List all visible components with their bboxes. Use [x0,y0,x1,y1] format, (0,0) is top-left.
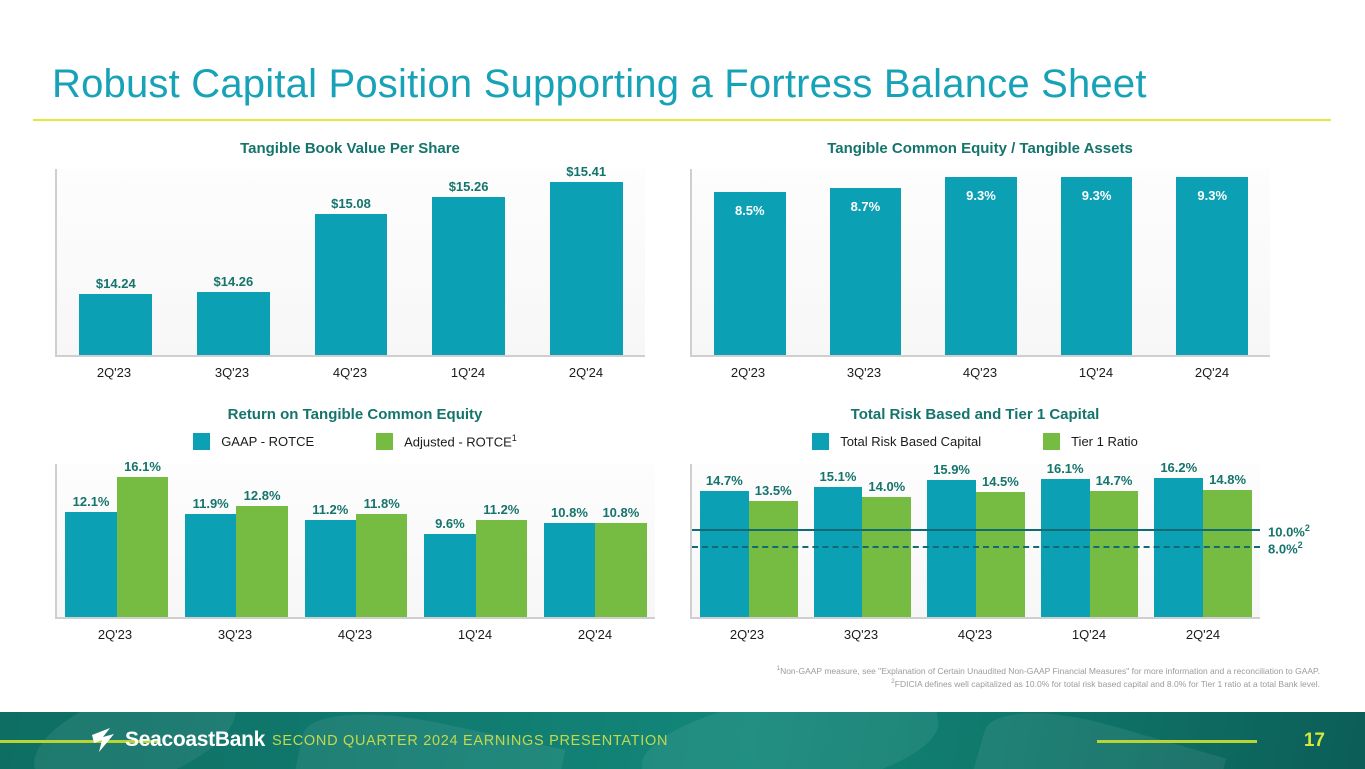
x-axis-tick-label: 4Q'23 [295,627,415,642]
x-axis-tick-label: 3Q'23 [804,627,918,642]
chart-x-axis: 2Q'233Q'234Q'231Q'242Q'24 [55,627,655,642]
chart-title: Total Risk Based and Tier 1 Capital [690,406,1260,423]
chart-x-axis: 2Q'233Q'234Q'231Q'242Q'24 [690,365,1270,380]
bar [185,514,236,617]
chart-plot-area: $14.24$14.26$15.08$15.26$15.41 [55,169,645,357]
bar [315,214,388,355]
x-axis-tick-label: 2Q'23 [690,365,806,380]
footnote-2: 2FDICIA defines well capitalized as 10.0… [700,677,1320,690]
bar-value-label: 9.3% [945,188,1017,203]
bar-value-label: 9.3% [1061,188,1133,203]
x-axis-tick-label: 2Q'23 [690,627,804,642]
reference-line [692,546,1260,548]
bar-value-label: 13.5% [745,483,802,498]
chart-panel-rotce: Return on Tangible Common Equity GAAP - … [55,406,655,619]
bar [814,487,863,617]
bar [476,520,527,617]
bar-value-label: 8.5% [714,203,786,218]
bar [1176,177,1248,355]
x-axis-tick-label: 1Q'24 [1038,365,1154,380]
chart-title: Tangible Book Value Per Share [55,140,645,157]
bar-value-label: 12.1% [61,494,120,509]
legend-item-tier-1-ratio[interactable]: Tier 1 Ratio [1043,433,1138,450]
x-axis-tick-label: 2Q'24 [1154,365,1270,380]
footer-caption: SECOND QUARTER 2024 EARNINGS PRESENTATIO… [272,733,668,749]
chart-panel-tce-tangible-assets: Tangible Common Equity / Tangible Assets… [690,140,1270,357]
x-axis-tick-label: 1Q'24 [1032,627,1146,642]
bar-value-label: 11.2% [472,502,531,517]
bar-value-label: 9.3% [1176,188,1248,203]
bar [550,182,623,355]
x-axis-tick-label: 4Q'23 [291,365,409,380]
bar-value-label: 14.7% [1086,473,1143,488]
bar [1090,491,1139,617]
bar-value-label: 12.8% [232,488,291,503]
bar [236,506,287,617]
x-axis-tick-label: 2Q'23 [55,627,175,642]
bar-value-label: $15.26 [428,179,509,194]
bar [117,477,168,617]
x-axis-tick-label: 3Q'23 [173,365,291,380]
x-axis-tick-label: 1Q'24 [415,627,535,642]
bar [197,292,270,355]
legend-swatch-icon [812,433,829,450]
reference-line-label: 10.0%2 [1268,523,1310,539]
footer-rule-right [1097,740,1257,743]
slide-footer: SeacoastBank SECOND QUARTER 2024 EARNING… [0,712,1365,769]
bar [356,514,407,617]
bar-value-label: $15.08 [311,196,392,211]
bar-value-label: 14.8% [1199,472,1256,487]
bar-value-label: 14.0% [858,479,915,494]
legend-swatch-icon [376,433,393,450]
legend-label: Adjusted - ROTCE1 [404,433,517,449]
bar [79,294,152,355]
bar [305,520,356,617]
legend-swatch-icon [193,433,210,450]
bar [749,501,798,617]
palm-frond-decor-icon [634,712,945,769]
x-axis-tick-label: 2Q'23 [55,365,173,380]
legend-label: GAAP - ROTCE [221,434,314,449]
legend-item-gaap-rotce[interactable]: GAAP - ROTCE [193,433,314,450]
x-axis-tick-label: 2Q'24 [535,627,655,642]
x-axis-tick-label: 4Q'23 [918,627,1032,642]
x-axis-tick-label: 4Q'23 [922,365,1038,380]
footnote-1: 1Non-GAAP measure, see "Explanation of C… [700,664,1320,677]
bar [544,523,595,617]
bar [1203,490,1252,617]
legend-label: Total Risk Based Capital [840,434,981,449]
bar [700,491,749,617]
x-axis-tick-label: 1Q'24 [409,365,527,380]
bar [432,197,505,355]
bar [927,480,976,617]
x-axis-tick-label: 2Q'24 [527,365,645,380]
bar [424,534,475,617]
bar-value-label: 10.8% [591,505,650,520]
chart-legend: Total Risk Based Capital Tier 1 Ratio [690,433,1260,450]
legend-swatch-icon [1043,433,1060,450]
brand-lockup: SeacoastBank [90,726,265,754]
bar [595,523,646,617]
bar [976,492,1025,617]
chart-panel-risk-based-tier1: Total Risk Based and Tier 1 Capital Tota… [690,406,1260,619]
bar-value-label: 8.7% [830,199,902,214]
bar-value-label: $14.26 [193,274,274,289]
bar-value-label: 11.8% [352,496,411,511]
bar-value-label: 16.1% [113,459,172,474]
chart-plot-area: 8.5%8.7%9.3%9.3%9.3% [690,169,1270,357]
chart-panel-tangible-book-value: Tangible Book Value Per Share $14.24$14.… [55,140,645,357]
chart-x-axis: 2Q'233Q'234Q'231Q'242Q'24 [690,627,1260,642]
bar-value-label: 9.6% [420,516,479,531]
footnotes: 1Non-GAAP measure, see "Explanation of C… [700,664,1320,690]
x-axis-tick-label: 3Q'23 [806,365,922,380]
bar-value-label: $15.41 [546,164,627,179]
page-number: 17 [1304,730,1325,752]
title-divider [33,119,1331,121]
chart-title: Tangible Common Equity / Tangible Assets [690,140,1270,157]
chart-title: Return on Tangible Common Equity [55,406,655,423]
page-title: Robust Capital Position Supporting a For… [52,62,1147,107]
brand-name: SeacoastBank [125,728,265,752]
bar-value-label: $14.24 [75,276,156,291]
legend-item-total-risk-based-capital[interactable]: Total Risk Based Capital [812,433,981,450]
bar [862,497,911,617]
reference-line [692,529,1260,531]
chart-legend: GAAP - ROTCE Adjusted - ROTCE1 [55,433,655,450]
sailfish-logo-icon [90,726,116,754]
x-axis-tick-label: 3Q'23 [175,627,295,642]
legend-label: Tier 1 Ratio [1071,434,1138,449]
bar-value-label: 14.5% [972,474,1029,489]
legend-item-adjusted-rotce[interactable]: Adjusted - ROTCE1 [376,433,517,450]
chart-x-axis: 2Q'233Q'234Q'231Q'242Q'24 [55,365,645,380]
chart-plot-area: 12.1%16.1%11.9%12.8%11.2%11.8%9.6%11.2%1… [55,464,655,619]
chart-plot-area: 14.7%13.5%15.1%14.0%15.9%14.5%16.1%14.7%… [690,464,1260,619]
bar [945,177,1017,355]
x-axis-tick-label: 2Q'24 [1146,627,1260,642]
bar [65,512,116,617]
reference-line-label: 8.0%2 [1268,540,1303,556]
bar [1061,177,1133,355]
